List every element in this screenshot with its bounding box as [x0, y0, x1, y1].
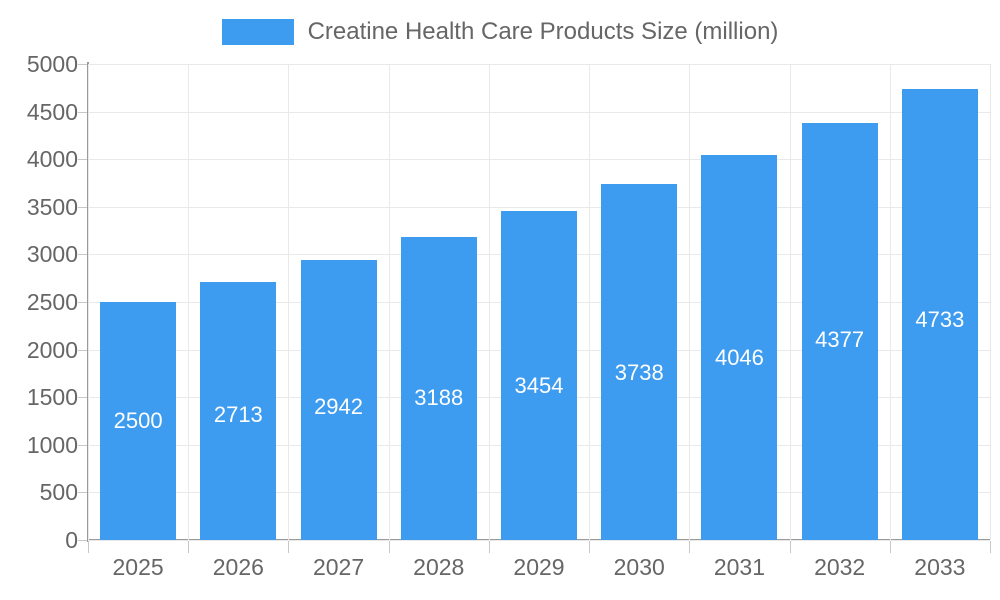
x-axis-tick-label: 2033 — [880, 556, 1000, 579]
x-axis-tick-mark — [88, 541, 89, 553]
x-axis-tick-mark — [389, 541, 390, 553]
gridline-vertical — [88, 64, 89, 540]
bar-value-label: 3188 — [401, 387, 477, 409]
bar-value-label: 4046 — [701, 347, 777, 369]
bar-value-label: 2713 — [200, 404, 276, 426]
y-axis-tick-label: 0 — [6, 529, 78, 552]
y-axis-tick-label: 3000 — [6, 243, 78, 266]
x-axis-tick-mark — [890, 541, 891, 553]
chart-legend[interactable]: Creatine Health Care Products Size (mill… — [0, 12, 1000, 52]
bar[interactable]: 2713 — [200, 282, 276, 540]
y-axis-tick-label: 4500 — [6, 101, 78, 124]
gridline-vertical — [689, 64, 690, 540]
bar-value-label: 4733 — [902, 309, 978, 331]
y-axis-tick-label: 2000 — [6, 339, 78, 362]
legend-label: Creatine Health Care Products Size (mill… — [308, 19, 779, 45]
bar-chart: Creatine Health Care Products Size (mill… — [0, 0, 1000, 600]
bar[interactable]: 4377 — [802, 123, 878, 540]
y-axis-tick-label: 5000 — [6, 53, 78, 76]
bar-value-label: 3454 — [501, 375, 577, 397]
bar[interactable]: 3738 — [601, 184, 677, 540]
gridline-horizontal — [88, 540, 990, 541]
gridline-horizontal — [88, 64, 990, 65]
y-axis-tick-label: 4000 — [6, 148, 78, 171]
bar[interactable]: 3188 — [401, 237, 477, 540]
gridline-vertical — [990, 64, 991, 540]
y-axis-tick-label: 1500 — [6, 386, 78, 409]
bar-value-label: 4377 — [802, 329, 878, 351]
plot-area: 250027132942318834543738404643774733 — [88, 64, 990, 540]
gridline-vertical — [288, 64, 289, 540]
x-axis-tick-mark — [589, 541, 590, 553]
bar-value-label: 3738 — [601, 362, 677, 384]
x-axis-tick-mark — [790, 541, 791, 553]
bar[interactable]: 4733 — [902, 89, 978, 540]
x-axis-tick-mark — [990, 541, 991, 553]
y-axis-tick-label: 500 — [6, 481, 78, 504]
gridline-vertical — [890, 64, 891, 540]
gridline-vertical — [389, 64, 390, 540]
gridline-vertical — [589, 64, 590, 540]
bar[interactable]: 4046 — [701, 155, 777, 540]
bar[interactable]: 2500 — [100, 302, 176, 540]
gridline-horizontal — [88, 112, 990, 113]
x-axis-tick-mark — [489, 541, 490, 553]
y-axis-tick-label: 1000 — [6, 434, 78, 457]
gridline-vertical — [790, 64, 791, 540]
legend-color-swatch[interactable] — [222, 19, 294, 45]
y-axis-tick-label: 2500 — [6, 291, 78, 314]
bar[interactable]: 2942 — [301, 260, 377, 540]
y-axis-tick-label: 3500 — [6, 196, 78, 219]
x-axis-tick-mark — [689, 541, 690, 553]
bar[interactable]: 3454 — [501, 211, 577, 540]
bar-value-label: 2942 — [301, 396, 377, 418]
gridline-vertical — [188, 64, 189, 540]
x-axis-tick-mark — [288, 541, 289, 553]
bar-value-label: 2500 — [100, 410, 176, 432]
y-axis-tick-labels: 0500100015002000250030003500400045005000 — [0, 0, 78, 600]
x-axis-tick-mark — [188, 541, 189, 553]
gridline-vertical — [489, 64, 490, 540]
